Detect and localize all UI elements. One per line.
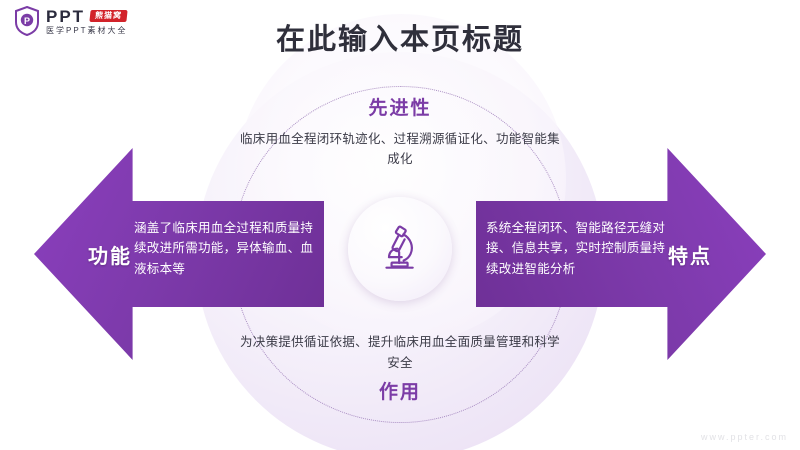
left-arrow-label: 功能 [88,240,132,269]
left-description-text: 涵盖了临床用血全过程和质量持续改进所需功能，异体输血、血液标本等 [134,218,320,279]
page-title: 在此输入本页标题 [0,16,800,58]
top-block-body: 临床用血全程闭环轨迹化、过程溯源循证化、功能智能集成化 [235,129,565,171]
site-watermark: www.ppter.com [701,432,788,442]
microscope-icon [373,220,427,279]
bottom-block: 为决策提供循证依据、提升临床用血全面质量管理和科学安全 作用 [235,332,565,405]
bottom-block-body: 为决策提供循证依据、提升临床用血全面质量管理和科学安全 [235,332,565,374]
center-icon-circle [348,197,452,301]
top-block: 先进性 临床用血全程闭环轨迹化、过程溯源循证化、功能智能集成化 [235,97,565,170]
slide-canvas: P PPT 熊猫窝 医学PPT素材大全 在此输入本页标题 功能 特点 涵盖了临床… [0,0,800,450]
right-description-text: 系统全程闭环、智能路径无缝对接、信息共享，实时控制质量持续改进智能分析 [486,218,672,279]
right-arrow-label: 特点 [668,240,712,269]
bottom-block-heading: 作用 [235,381,565,406]
top-block-heading: 先进性 [235,97,565,122]
